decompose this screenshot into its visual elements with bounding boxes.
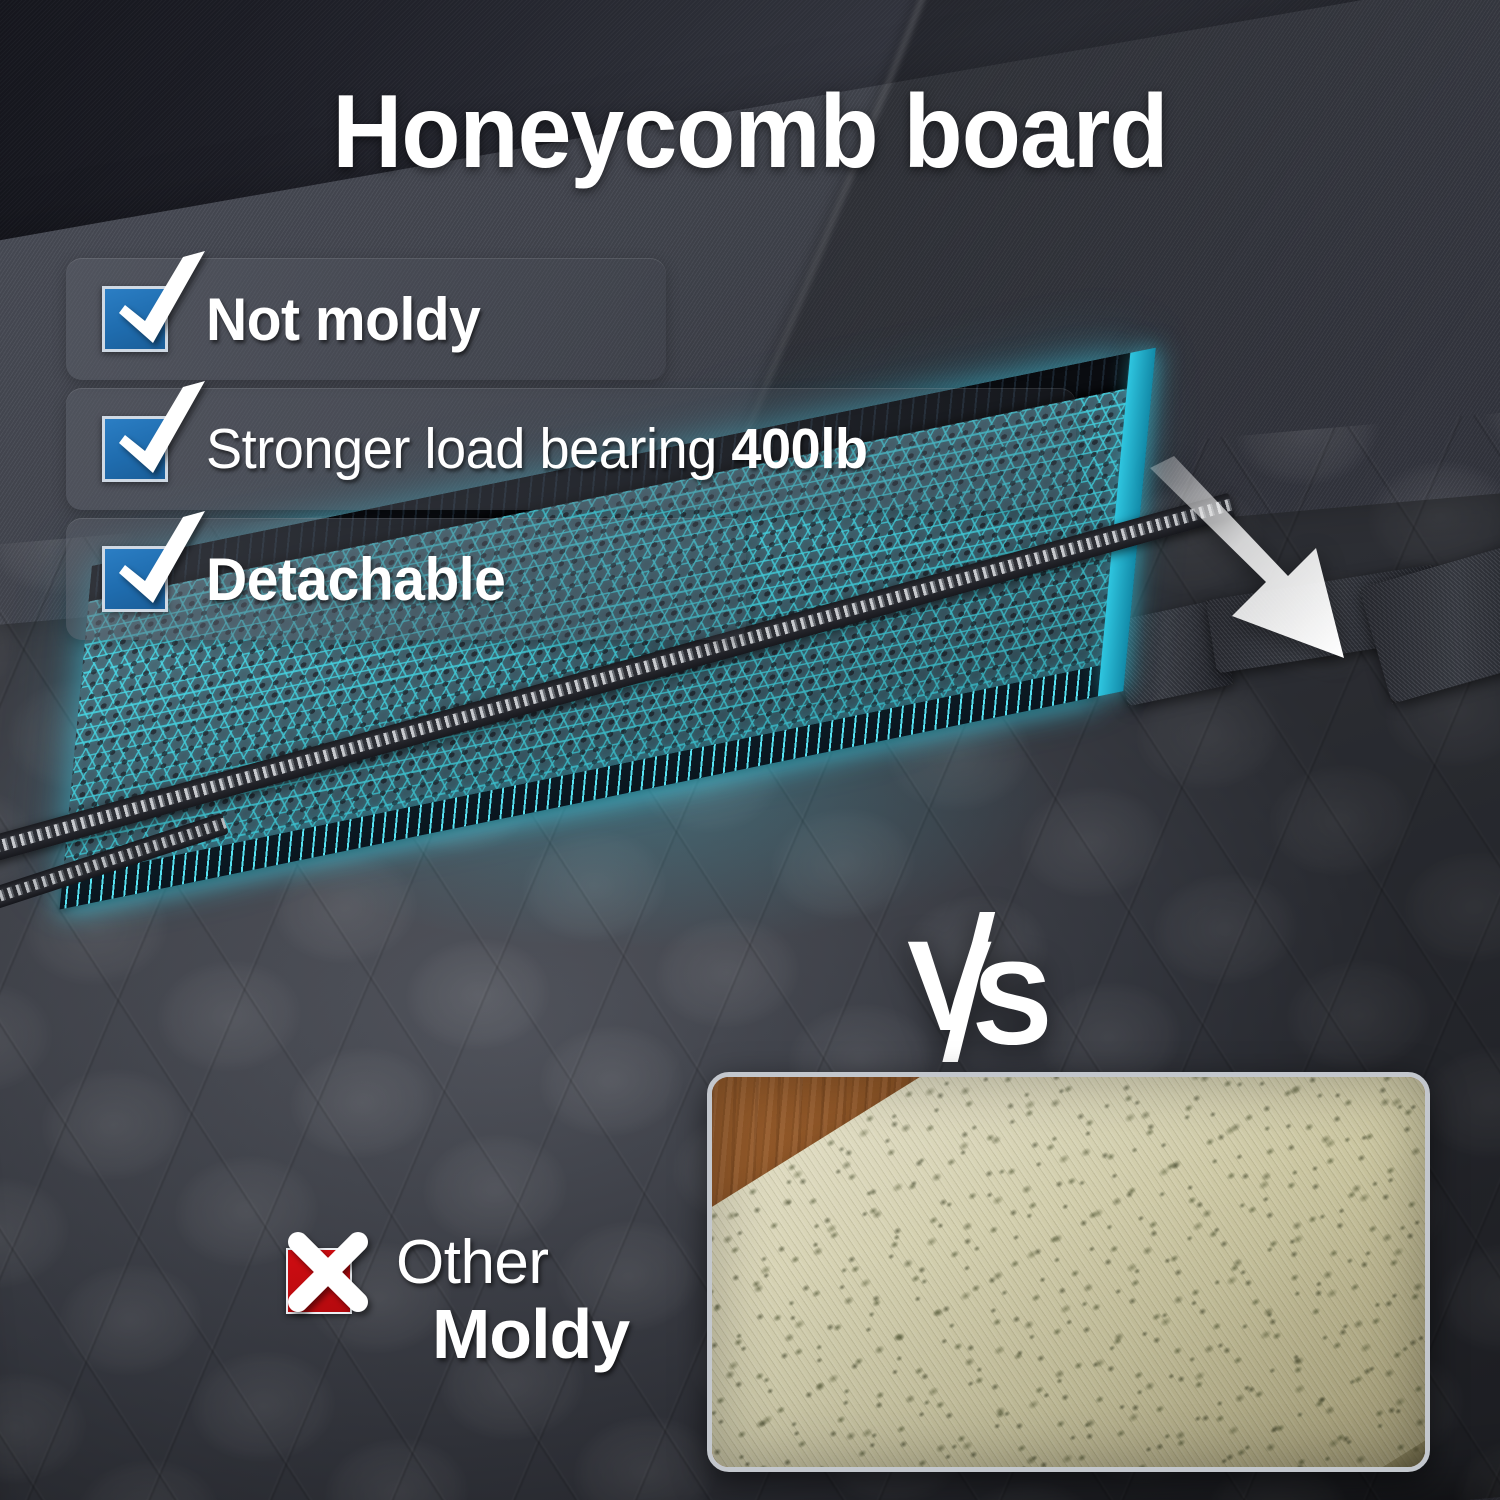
feature-row-not-moldy[interactable]: Not moldy — [66, 258, 666, 380]
versus-label: V S — [905, 912, 1065, 1062]
negative-label-other: Other — [396, 1230, 629, 1295]
feature-label-detachable: Detachable — [206, 545, 505, 614]
direction-arrow-icon — [1148, 452, 1478, 702]
negative-comparison-label: Other Moldy — [286, 1230, 629, 1373]
checkmark-icon — [101, 511, 213, 623]
checkmark-icon — [101, 251, 213, 363]
moldy-board-photo — [707, 1072, 1430, 1472]
feature-label-load-bearing: Stronger load bearing 400lb — [206, 416, 867, 482]
product-infographic: V S Honeycomb board Not moldy Stronger l… — [0, 0, 1500, 1500]
page-title: Honeycomb board — [53, 78, 1448, 187]
blue-checkbox-icon — [102, 286, 168, 352]
red-x-icon — [286, 1248, 352, 1314]
feature-list: Not moldy Stronger load bearing 400lb De… — [66, 258, 1076, 640]
feature-label-load-bearing-value: 400lb — [731, 417, 867, 481]
checkmark-icon — [101, 381, 213, 493]
feature-row-load-bearing[interactable]: Stronger load bearing 400lb — [66, 388, 1076, 510]
feature-label-not-moldy: Not moldy — [206, 285, 480, 354]
negative-label-moldy: Moldy — [432, 1295, 629, 1373]
blue-checkbox-icon — [102, 546, 168, 612]
blue-checkbox-icon — [102, 416, 168, 482]
feature-row-detachable[interactable]: Detachable — [66, 518, 746, 640]
feature-label-load-bearing-text: Stronger load bearing — [206, 417, 731, 481]
svg-text:S: S — [973, 938, 1052, 1062]
x-mark-icon — [272, 1216, 380, 1324]
